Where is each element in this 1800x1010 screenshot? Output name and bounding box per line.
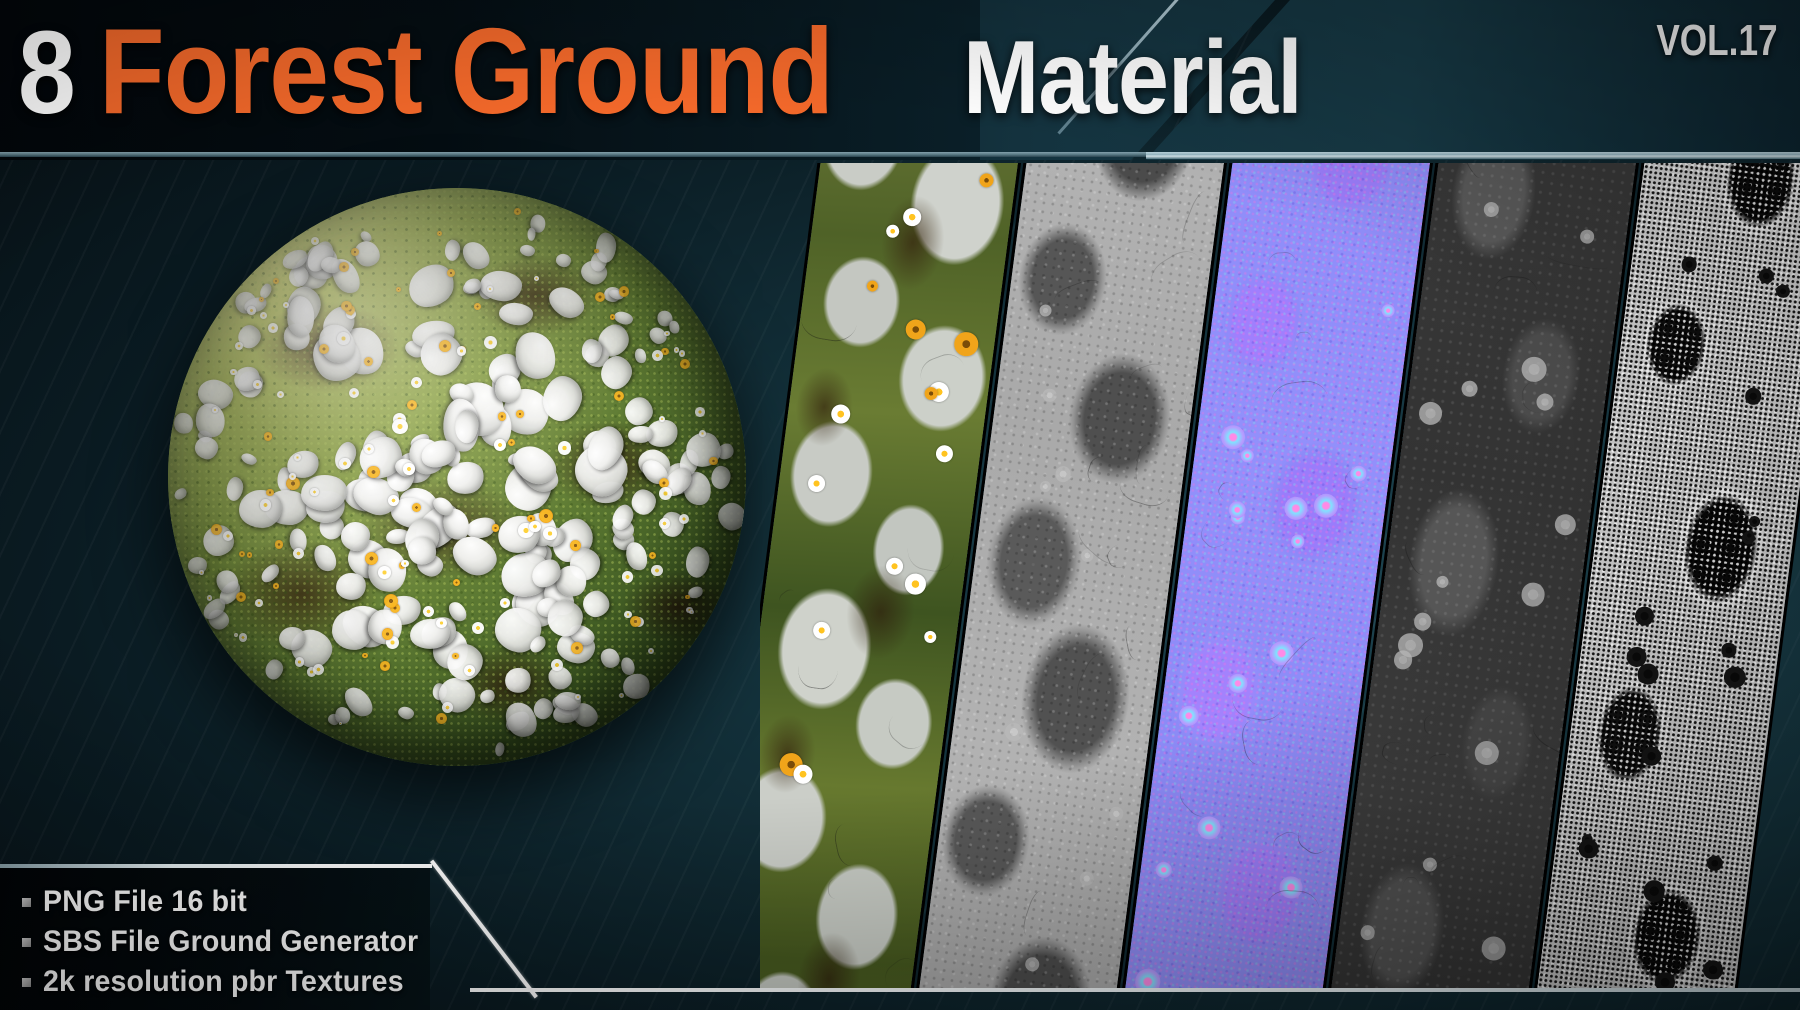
bullet-square-icon [22,938,31,947]
footer-rule [470,988,1800,992]
bullet-square-icon [22,898,31,907]
texture-crack-mark [1267,251,1298,286]
title-sub-text: Material [963,26,1302,130]
feature-item-2: 2k resolution pbr Textures [22,962,422,1002]
texture-crack-mark [1402,877,1419,909]
feature-list: PNG File 16 bit SBS File Ground Generato… [22,882,422,1002]
texture-crack-mark [828,878,852,900]
header-rule-left [0,152,1150,157]
sphere-rim-shadow [168,188,746,766]
bullet-square-icon [22,978,31,987]
page-title: 8 Forest Ground Material [18,10,1348,132]
texture-crack-mark [1424,714,1451,736]
texture-map-strip-row [760,163,1800,991]
texture-crack-mark [1294,331,1315,367]
feature-item-1: SBS File Ground Generator [22,922,422,962]
title-count: 8 [18,14,75,132]
header-bar: 8 Forest Ground Material VOL.17 [0,0,1800,160]
feature-label: SBS File Ground Generator [43,925,418,959]
material-preview-sphere [168,188,746,766]
title-main-text: Forest Ground [99,10,833,132]
header-rule-right [1146,152,1800,159]
feature-label: 2k resolution pbr Textures [43,965,404,999]
feature-panel-top-rule [0,864,432,868]
feature-panel-diagonal-rule [430,860,538,999]
volume-badge: VOL.17 [1657,16,1778,66]
feature-item-0: PNG File 16 bit [22,882,422,922]
feature-label: PNG File 16 bit [43,885,247,919]
poster-canvas: 8 Forest Ground Material VOL.17 PNG File [0,0,1800,1010]
texture-crack-mark [1264,889,1321,943]
texture-crack-mark [1492,275,1539,321]
texture-crack-mark [1522,378,1576,414]
